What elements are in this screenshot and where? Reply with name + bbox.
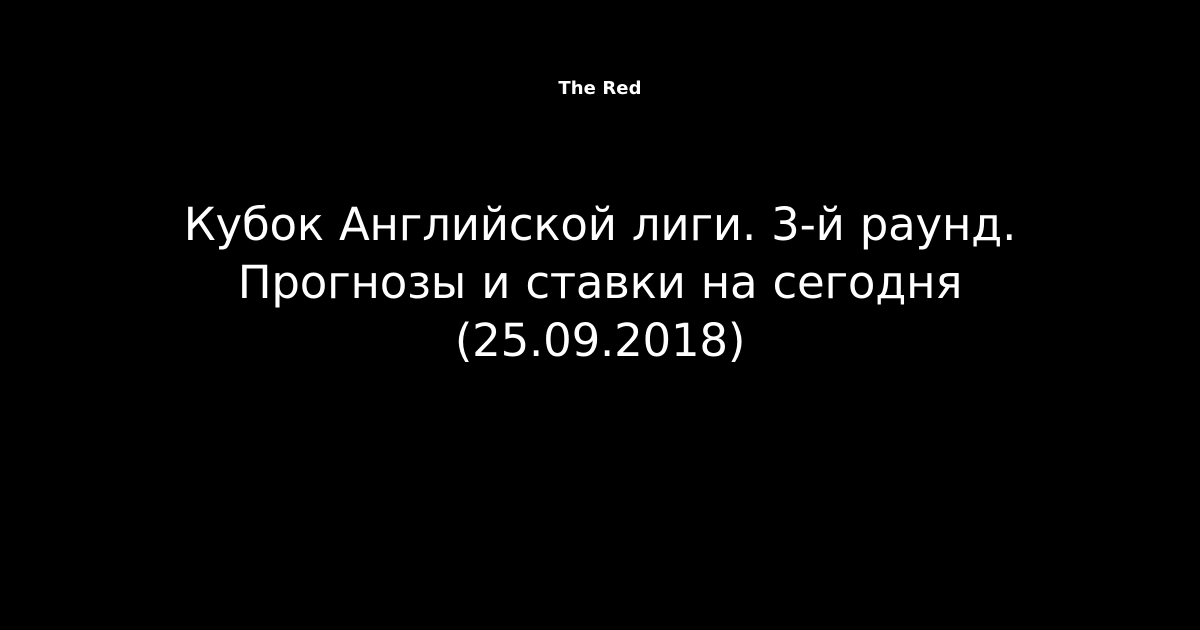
headline-line-2: Прогнозы и ставки на сегодня [60, 254, 1140, 312]
headline-line-1: Кубок Английской лиги. 3-й раунд. [60, 196, 1140, 254]
share-card: The Red Кубок Английской лиги. 3-й раунд… [0, 0, 1200, 630]
site-name: The Red [0, 78, 1200, 100]
page-title: Кубок Английской лиги. 3-й раунд. Прогно… [60, 196, 1140, 370]
headline-line-3-date: (25.09.2018) [60, 312, 1140, 370]
headline-container: Кубок Английской лиги. 3-й раунд. Прогно… [60, 196, 1140, 370]
